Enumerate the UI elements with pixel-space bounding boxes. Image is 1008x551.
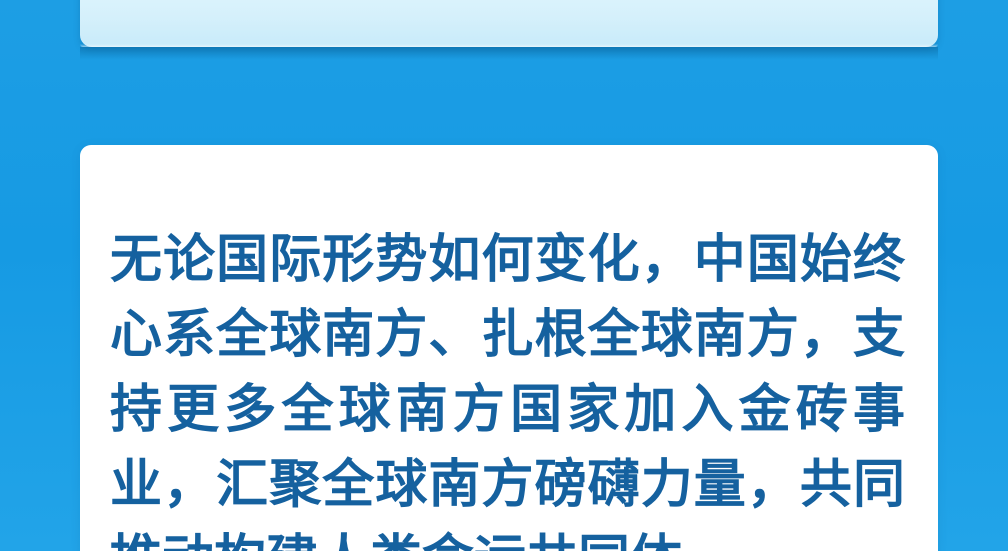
quote-card: 无论国际形势如何变化，中国始终心系全球南方、扎根全球南方，支持更多全球南方国家加… [80,145,938,551]
panel-bottom-highlight [80,44,938,47]
page-root: 无论国际形势如何变化，中国始终心系全球南方、扎根全球南方，支持更多全球南方国家加… [0,0,1008,551]
previous-card-sliver [80,0,938,47]
quote-text: 无论国际形势如何变化，中国始终心系全球南方、扎根全球南方，支持更多全球南方国家加… [110,223,905,551]
panel-drop-shadow [80,47,938,60]
